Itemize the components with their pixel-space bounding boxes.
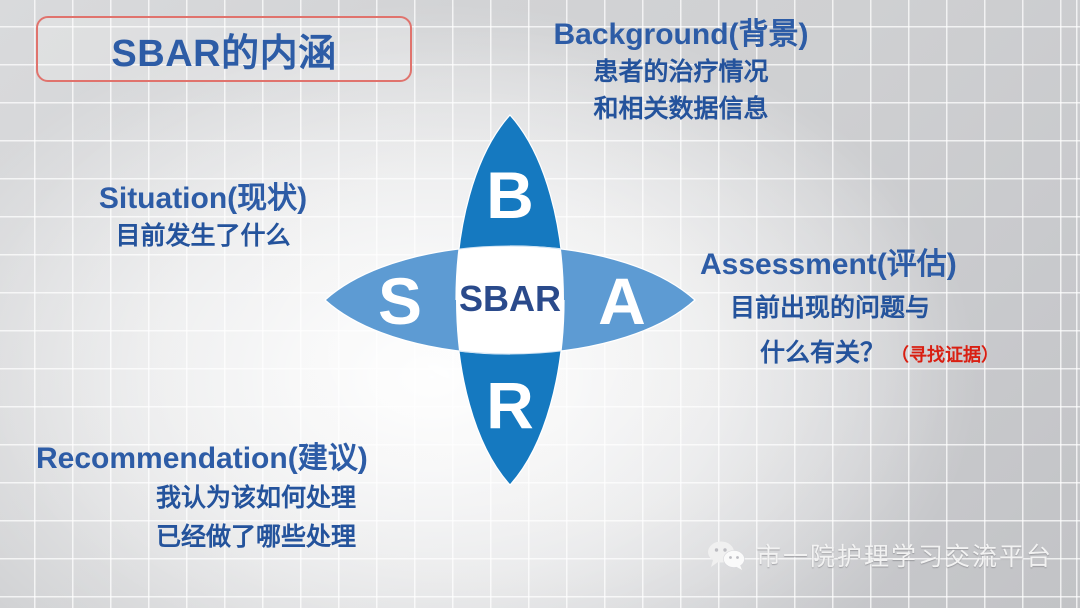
watermark: 市一院护理学习交流平台 xyxy=(706,537,1053,573)
label-assessment-note: （寻找证据） xyxy=(891,341,999,367)
wechat-icon xyxy=(706,540,746,570)
label-assessment-line1: 目前出现的问题与 xyxy=(700,293,1030,324)
label-background-line1: 患者的治疗情况 xyxy=(508,57,854,88)
label-situation-head: Situation(现状) xyxy=(58,182,348,215)
label-background-head: Background(背景) xyxy=(508,18,854,51)
label-situation: Situation(现状) 目前发生了什么 xyxy=(58,182,348,252)
slide-canvas: SBAR的内涵 Background(背景) 患者的治疗情况 和相关数据信息 S… xyxy=(0,0,1080,608)
label-assessment: Assessment(评估) 目前出现的问题与 什么有关？ （寻找证据） xyxy=(700,248,1030,368)
page-title: SBAR的内涵 xyxy=(111,22,336,77)
slide-title-box: SBAR的内涵 xyxy=(36,16,412,82)
sbar-venn-diagram: B S A R SBAR xyxy=(310,100,710,500)
label-assessment-line2-row: 什么有关？ （寻找证据） xyxy=(700,326,1030,369)
label-assessment-line2: 什么有关？ xyxy=(730,338,885,369)
petal-letter-b: B xyxy=(470,162,550,228)
label-situation-line1: 目前发生了什么 xyxy=(58,221,348,252)
diagram-center-label: SBAR xyxy=(410,278,610,320)
petal-letter-r: R xyxy=(470,372,550,438)
label-assessment-head: Assessment(评估) xyxy=(700,248,1030,281)
label-recommendation-line2: 已经做了哪些处理 xyxy=(36,522,476,553)
watermark-text: 市一院护理学习交流平台 xyxy=(756,537,1053,573)
